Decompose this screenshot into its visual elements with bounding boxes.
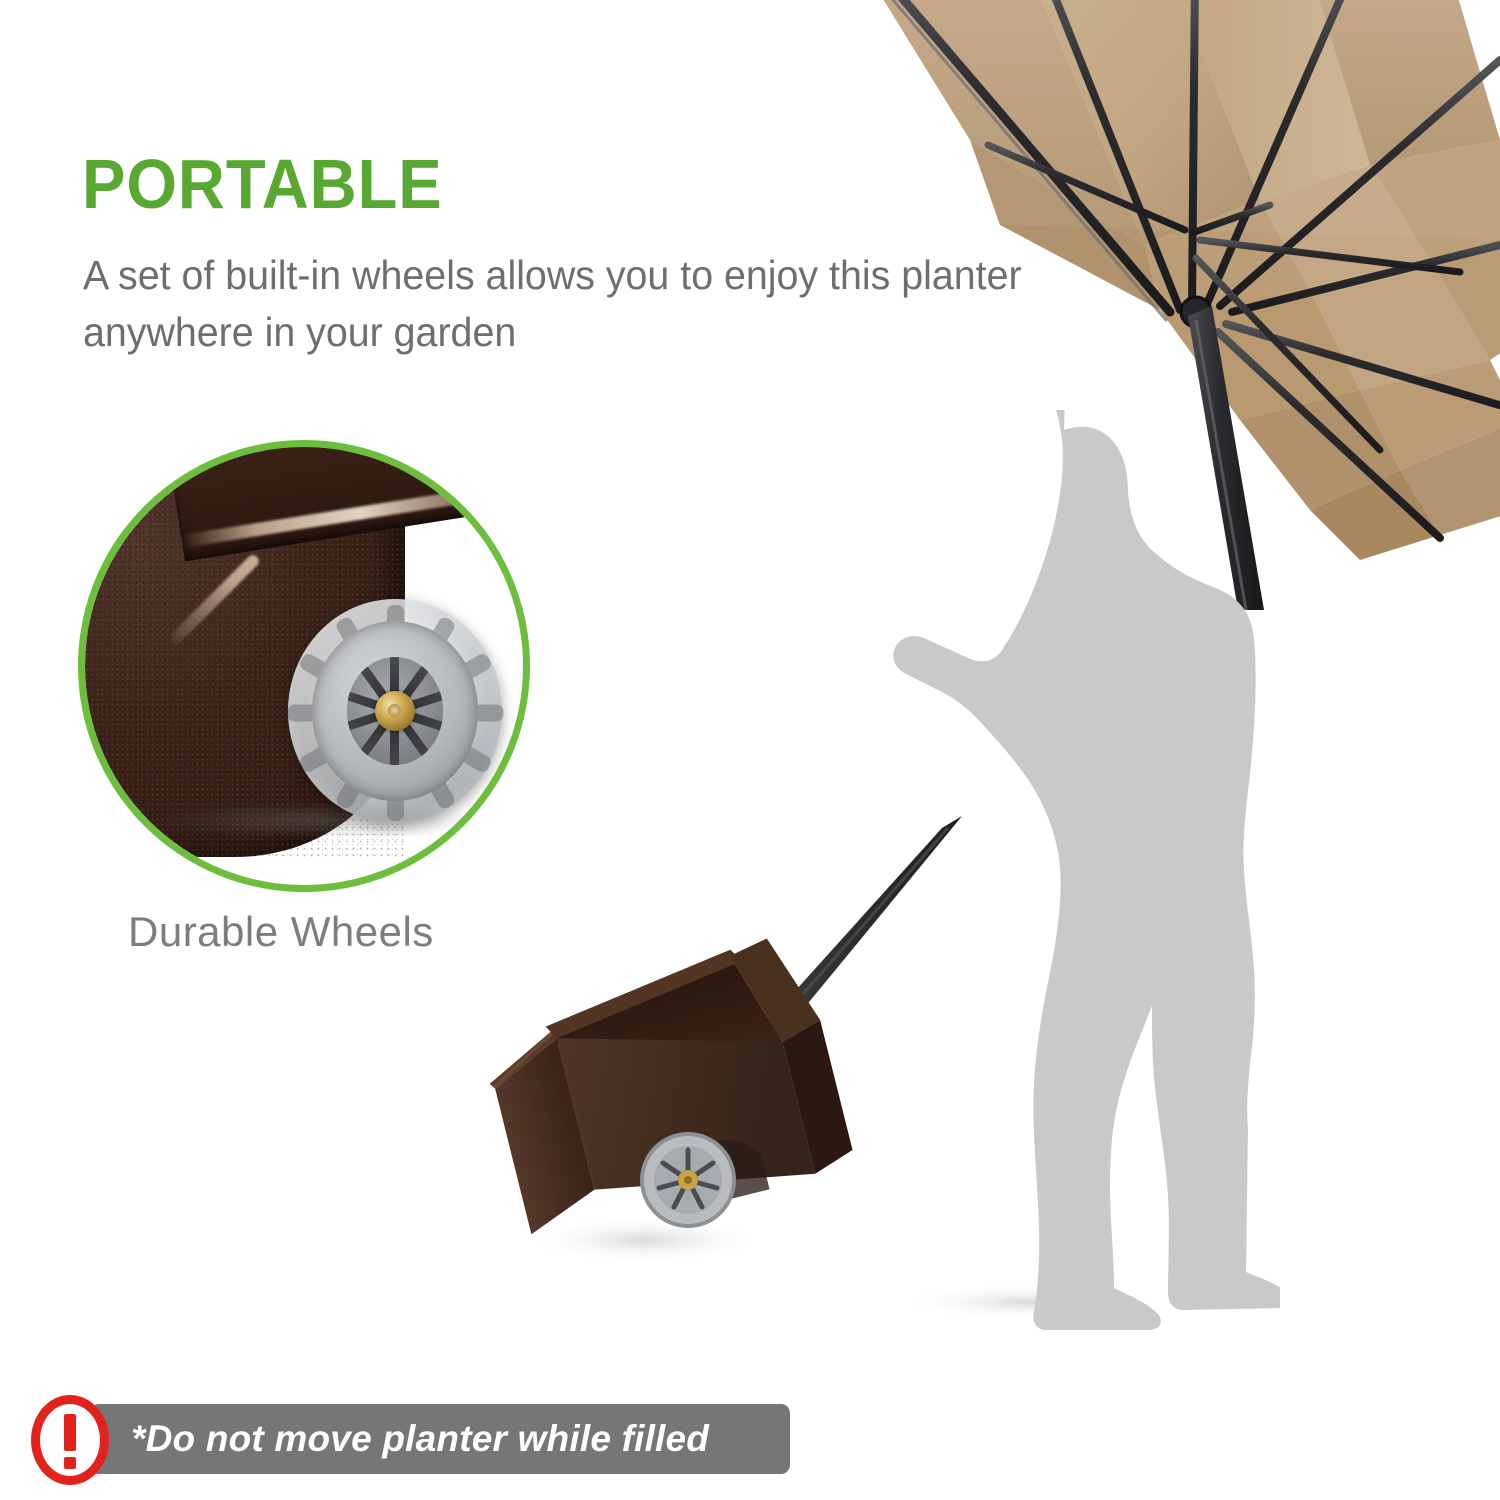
product-feature-image: PORTABLE A set of built-in wheels allows…: [0, 0, 1500, 1500]
wheel-closeup-photo: [85, 447, 523, 885]
man-pulling-planter-scene: [470, 410, 1280, 1350]
warning-text: *Do not move planter while filled: [131, 1418, 709, 1460]
man-silhouette: [893, 410, 1280, 1330]
warning-exclamation-stem: [64, 1414, 76, 1451]
inset-caption: Durable Wheels: [128, 908, 434, 956]
page-title: PORTABLE: [82, 148, 443, 220]
exclamation-circle-icon: [31, 1395, 109, 1485]
subtitle-text: A set of built-in wheels allows you to e…: [83, 247, 1033, 361]
wheel-axle-bearing: [375, 691, 415, 731]
planter-shadow: [470, 1206, 820, 1274]
planter-wheel: [642, 1134, 734, 1226]
wheel-inner-tire: [312, 621, 479, 800]
closeup-wheel: [288, 599, 502, 823]
man-shadow: [840, 1276, 1220, 1328]
inset-ground-shadow: [155, 803, 485, 839]
durable-wheels-inset: [78, 440, 530, 892]
warning-exclamation-dot: [64, 1457, 76, 1469]
